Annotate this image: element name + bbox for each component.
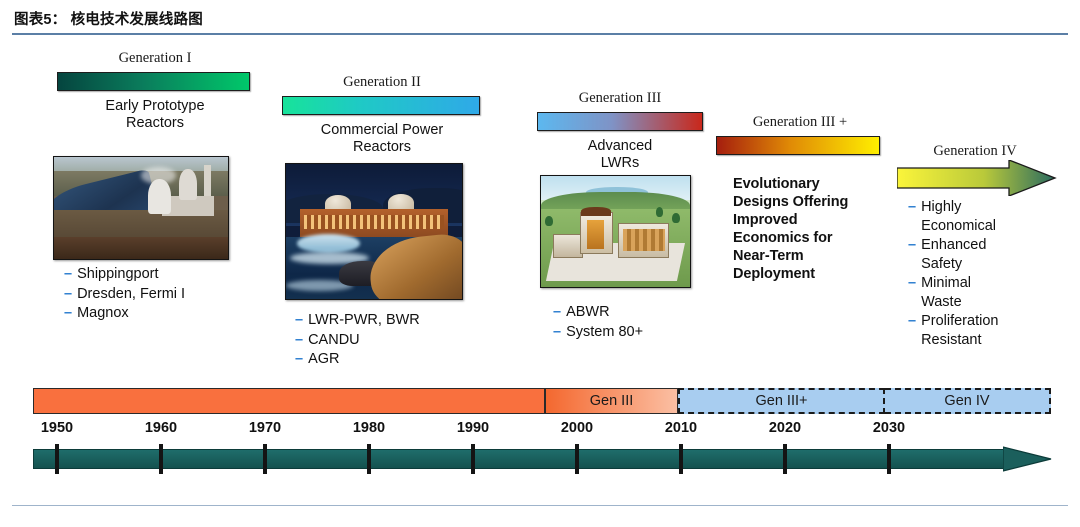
list-item: – Minimal Waste [908,274,1068,311]
year-label-2020: 2020 [769,420,801,436]
gen1-subtitle: Early Prototype Reactors [45,98,265,132]
list-item: – AGR [295,350,495,369]
list-item: – Dresden, Fermi I [64,285,264,304]
bullet-dash-icon: – [64,285,72,304]
list-item: – ABWR [553,303,733,322]
year-label-1970: 1970 [249,420,281,436]
list-item: – System 80+ [553,323,733,342]
bullet-dash-icon: – [553,303,561,322]
bullet-text: Minimal Waste [921,274,971,311]
bullet-text: LWR-PWR, BWR [308,311,420,330]
timeline-axis-bar [33,449,1013,469]
page-title: 图表5： 核电技术发展线路图 [14,8,203,29]
gen2-bullet-list: – LWR-PWR, BWR – CANDU – AGR [295,311,495,370]
gen4-arrow-icon [897,160,1057,196]
bullet-text: Enhanced Safety [921,236,986,273]
bullet-text: Highly Economical [921,198,996,235]
timeline-segment-gen3plus: Gen III+ [678,388,885,414]
bullet-dash-icon: – [64,304,72,323]
year-label-1950: 1950 [41,420,73,436]
bullet-dash-icon: – [295,331,303,350]
year-label-2010: 2010 [665,420,697,436]
timeline-segment-label: Gen III+ [756,393,808,409]
gen3-gradient-bar [537,112,703,131]
header-divider [12,33,1068,35]
timeline-segment-label: Gen IV [944,393,989,409]
bullet-text: CANDU [308,331,360,350]
year-label-1960: 1960 [145,420,177,436]
axis-tick [263,444,267,474]
axis-tick [575,444,579,474]
generation-column-gen1: Generation I Early Prototype Reactors [45,50,265,132]
generation-column-gen2: Generation II Commercial Power Reactors [272,74,492,156]
timeline-segment-gen3: Gen III [545,388,678,414]
list-item: – Shippingport [64,265,264,284]
list-item: – Magnox [64,304,264,323]
bullet-text: Shippingport [77,265,158,284]
year-label-1980: 1980 [353,420,385,436]
gen1-bullet-list: – Shippingport – Dresden, Fermi I – Magn… [64,265,264,324]
axis-tick [159,444,163,474]
bullet-dash-icon: – [908,312,916,331]
timeline-segment-early [33,388,545,414]
gen3plus-description: Evolutionary Designs Offering Improved E… [733,176,903,284]
timeline-segment-label: Gen III [590,393,634,409]
bullet-dash-icon: – [295,350,303,369]
gen1-gradient-bar [57,72,250,91]
timeline-axis-arrowhead-icon [1003,437,1055,481]
gen2-gradient-bar [282,96,480,115]
gen3plus-gradient-bar [716,136,880,155]
bullet-dash-icon: – [908,236,916,255]
bullet-text: Magnox [77,304,129,323]
axis-tick [679,444,683,474]
axis-tick [887,444,891,474]
bullet-text: AGR [308,350,339,369]
year-label-2000: 2000 [561,420,593,436]
bullet-text: Dresden, Fermi I [77,285,185,304]
gen3plus-title: Generation III + [710,114,890,131]
generation-column-gen3plus: Generation III + [710,114,890,155]
bullet-dash-icon: – [295,311,303,330]
year-label-2030: 2030 [873,420,905,436]
axis-tick [367,444,371,474]
axis-tick [471,444,475,474]
list-item: – Proliferation Resistant [908,312,1068,349]
bullet-dash-icon: – [908,198,916,217]
bullet-dash-icon: – [553,323,561,342]
gen3-title: Generation III [530,90,710,107]
bullet-dash-icon: – [908,274,916,293]
footer-divider [12,505,1068,506]
gen3-bullet-list: – ABWR – System 80+ [553,303,733,342]
generation-column-gen3: Generation III Advanced LWRs [530,90,710,172]
figure-root: 图表5： 核电技术发展线路图 Generation I Early Protot… [0,0,1080,527]
bullet-text: System 80+ [566,323,643,342]
gen3-subtitle: Advanced LWRs [530,138,710,172]
advanced-lwr-illustration [540,175,691,288]
year-label-1990: 1990 [457,420,489,436]
gen4-title: Generation IV [905,143,1045,160]
gen2-title: Generation II [272,74,492,91]
list-item: – Highly Economical [908,198,1068,235]
list-item: – LWR-PWR, BWR [295,311,495,330]
list-item: – Enhanced Safety [908,236,1068,273]
bullet-text: ABWR [566,303,610,322]
commercial-power-reactor-photo [285,163,463,300]
gen1-title: Generation I [45,50,265,67]
early-prototype-reactor-photo [53,156,229,260]
gen2-subtitle: Commercial Power Reactors [272,122,492,156]
list-item: – CANDU [295,331,495,350]
bullet-text: Proliferation Resistant [921,312,998,349]
timeline-segment-gen4: Gen IV [885,388,1051,414]
bullet-dash-icon: – [64,265,72,284]
axis-tick [55,444,59,474]
axis-tick [783,444,787,474]
gen4-bullet-list: – Highly Economical – Enhanced Safety – … [908,198,1068,350]
